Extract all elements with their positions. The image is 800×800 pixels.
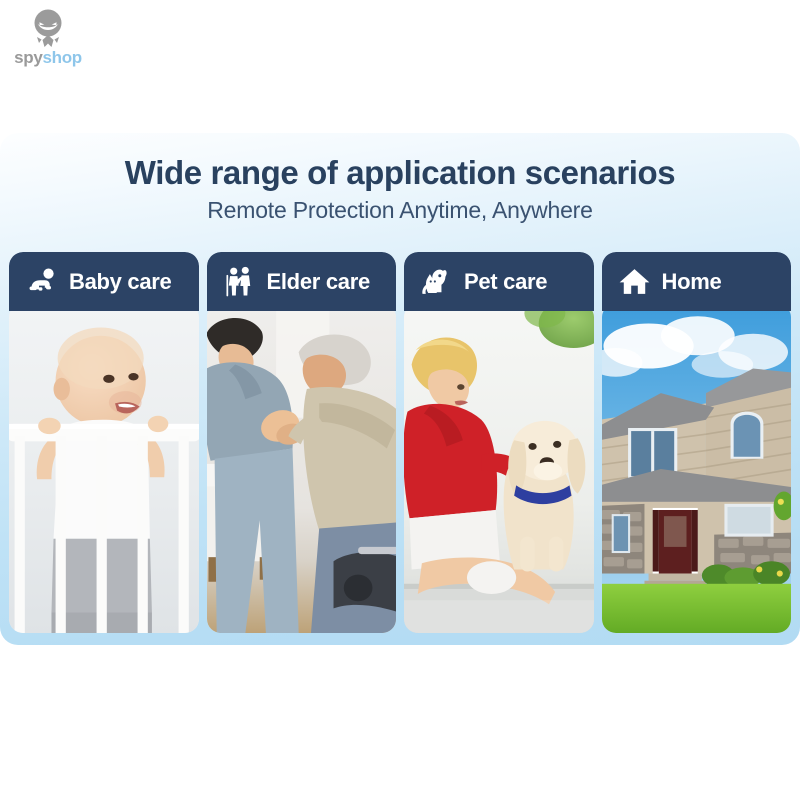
brand-wordmark-spy: spy [14,48,42,67]
boy-with-puppy-illustration [404,305,594,633]
scenario-card-elder-care[interactable]: Elder care [207,252,397,633]
card-header-elder-care: Elder care [207,252,397,311]
crawling-baby-icon [25,265,58,298]
promo-panel: Wide range of application scenarios Remo… [0,133,800,645]
card-header-home: Home [602,252,792,311]
card-title-pet-care: Pet care [464,269,547,295]
card-header-pet-care: Pet care [404,252,594,311]
page-subtitle: Remote Protection Anytime, Anywhere [0,197,800,225]
caregiver-and-elderly-illustration [207,305,397,633]
brand-wordmark-shop: shop [42,48,81,67]
card-title-elder-care: Elder care [267,269,370,295]
scenario-card-home[interactable]: Home [602,252,792,633]
card-photo-elder-care [207,305,397,633]
suburban-house-illustration [602,305,792,633]
scenario-card-row: Baby care [9,252,791,633]
elderly-with-caregiver-icon [223,265,256,298]
brand-logo[interactable]: spyshop [8,6,88,72]
card-photo-pet-care [404,305,594,633]
spy-ninja-mascot-icon [26,6,70,50]
headline-block: Wide range of application scenarios Remo… [0,155,800,225]
brand-wordmark: spyshop [14,49,82,66]
scenario-card-pet-care[interactable]: Pet care [404,252,594,633]
card-header-baby-care: Baby care [9,252,199,311]
scenario-card-baby-care[interactable]: Baby care [9,252,199,633]
card-photo-home [602,305,792,633]
dog-and-cat-icon [420,265,453,298]
card-title-home: Home [662,269,722,295]
baby-in-crib-illustration [9,305,199,633]
page-title: Wide range of application scenarios [0,155,800,191]
card-photo-baby-care [9,305,199,633]
house-icon [618,265,651,298]
card-title-baby-care: Baby care [69,269,171,295]
